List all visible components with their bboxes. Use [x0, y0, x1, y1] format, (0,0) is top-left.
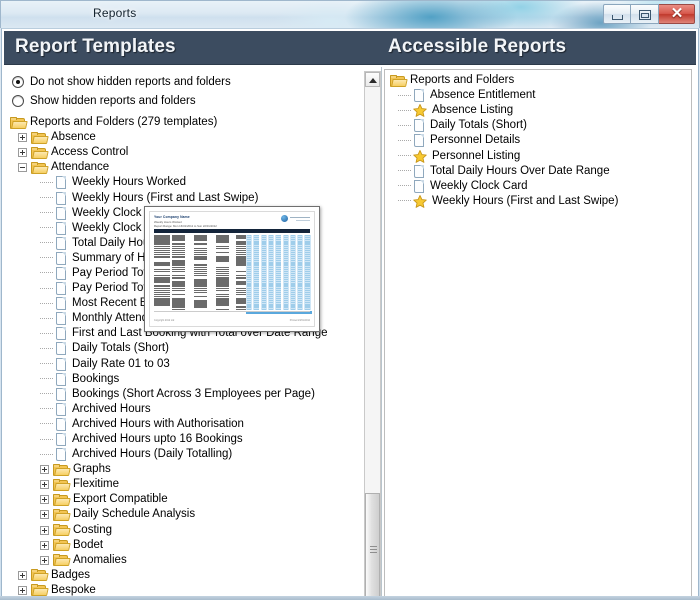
preview-cell [254, 294, 258, 295]
client-area: Report Templates Accessible Reports Do n… [1, 28, 699, 599]
preview-cell [276, 235, 280, 236]
preview-report-range: Report Range: Mon 16/01/2012 to Sun 22/0… [154, 224, 217, 228]
preview-cell [284, 275, 288, 276]
tree-item-label: Reports and Folders (279 templates) [30, 115, 217, 130]
preview-cell [262, 267, 266, 268]
tree-item[interactable]: Total Daily Hours Over Date Range [390, 164, 690, 179]
preview-text-line [216, 309, 229, 311]
preview-cell [247, 239, 251, 240]
preview-cell [298, 262, 302, 263]
preview-cell [247, 267, 251, 268]
preview-cell [247, 306, 251, 307]
preview-text-line [172, 271, 185, 273]
preview-cell [305, 243, 309, 244]
preview-cell [269, 248, 273, 249]
preview-cell [305, 288, 309, 289]
expand-icon[interactable] [40, 526, 49, 535]
preview-cell [298, 302, 302, 303]
page-icon [413, 89, 425, 102]
tree-item[interactable]: Daily Totals (Short) [10, 341, 370, 356]
tree-item[interactable]: Personnel Listing [390, 148, 690, 163]
templates-scrollbar[interactable] [364, 71, 381, 599]
tree-item[interactable]: Attendance [10, 160, 370, 175]
preview-text-line [194, 275, 207, 277]
preview-cell [254, 258, 258, 259]
preview-cell [284, 304, 288, 305]
page-icon [55, 312, 67, 325]
page-icon [55, 342, 67, 355]
hidden-reports-radio-group: Do not show hidden reports and foldersSh… [12, 73, 231, 111]
preview-cell [262, 264, 266, 265]
preview-cell [276, 279, 280, 280]
preview-cell [298, 264, 302, 265]
preview-cell [276, 281, 280, 282]
preview-cell [262, 285, 266, 286]
tree-item[interactable]: Graphs [10, 462, 370, 477]
preview-cell [247, 258, 251, 259]
preview-cell [247, 262, 251, 263]
preview-cell [247, 292, 251, 293]
preview-cell [298, 300, 302, 301]
preview-cell [247, 273, 251, 274]
preview-cell [298, 283, 302, 284]
preview-cell [291, 277, 295, 278]
preview-cell [254, 296, 258, 297]
preview-cell [262, 252, 266, 253]
preview-cell [291, 292, 295, 293]
tree-item[interactable]: Archived Hours with Authorisation [10, 417, 370, 432]
preview-cell [284, 277, 288, 278]
page-icon [55, 267, 67, 280]
tree-item-label: Absence [51, 130, 96, 145]
page-icon [55, 358, 67, 371]
preview-cell [269, 246, 273, 247]
page-icon [55, 237, 67, 250]
tree-item-label: Archived Hours [72, 402, 151, 417]
tree-connector [40, 257, 53, 259]
preview-text-line [154, 281, 170, 283]
preview-cell [276, 254, 280, 255]
preview-text-line [216, 290, 229, 292]
preview-text-line [194, 296, 207, 298]
preview-cell [284, 281, 288, 282]
maximize-button[interactable] [631, 4, 659, 24]
tree-item-label: Access Control [51, 145, 128, 160]
preview-cell [254, 271, 258, 272]
tree-item[interactable]: Bookings [10, 372, 370, 387]
preview-cell [291, 252, 295, 253]
tree-item[interactable]: Daily Schedule Analysis [10, 507, 370, 522]
preview-cell [262, 306, 266, 307]
page-icon [55, 207, 67, 220]
radio-option-1[interactable]: Show hidden reports and folders [12, 92, 231, 109]
preview-cell [247, 296, 251, 297]
tree-item-label: Daily Rate 01 to 03 [72, 357, 170, 372]
preview-cell [254, 281, 258, 282]
tree-item-label: Daily Totals (Short) [430, 118, 527, 133]
report-templates-tree[interactable]: Reports and Folders (279 templates)Absen… [10, 115, 370, 598]
folder-icon [31, 162, 46, 174]
preview-cell [305, 298, 309, 299]
preview-cell [254, 250, 258, 251]
tree-item[interactable]: Daily Rate 01 to 03 [10, 357, 370, 372]
preview-cell [262, 281, 266, 282]
preview-cell [269, 267, 273, 268]
page-icon [55, 192, 67, 205]
preview-cell [284, 246, 288, 247]
preview-cell [276, 237, 280, 238]
tree-item[interactable]: Personnel Details [390, 133, 690, 148]
preview-cell [305, 235, 309, 236]
preview-cell [254, 277, 258, 278]
page-icon [55, 403, 67, 416]
preview-cell [269, 309, 273, 310]
preview-cell [284, 306, 288, 307]
expand-icon[interactable] [40, 495, 49, 504]
preview-cell [305, 239, 309, 240]
tree-item[interactable]: Weekly Hours (First and Last Swipe) [390, 194, 690, 209]
preview-cell [291, 302, 295, 303]
preview-cell [305, 294, 309, 295]
tree-item-label: Flexitime [73, 477, 119, 492]
preview-cell [254, 252, 258, 253]
preview-cell [305, 256, 309, 257]
close-button[interactable]: ✕ [659, 4, 695, 24]
preview-cell [298, 273, 302, 274]
folder-icon [31, 584, 46, 596]
folder-icon [53, 479, 68, 491]
preview-cell [284, 260, 288, 261]
tree-item[interactable]: Weekly Hours Worked [10, 175, 370, 190]
collapse-icon[interactable] [18, 163, 27, 172]
preview-text-line [216, 252, 229, 254]
preview-cell [305, 300, 309, 301]
preview-cell [291, 269, 295, 270]
page-icon [55, 373, 67, 386]
tree-connector [40, 439, 53, 441]
expand-icon[interactable] [18, 586, 27, 595]
page-icon [55, 282, 67, 295]
preview-cell [291, 256, 295, 257]
preview-cell [284, 283, 288, 284]
tree-item-label: Archived Hours with Authorisation [72, 417, 244, 432]
preview-cell [298, 304, 302, 305]
preview-cell [254, 254, 258, 255]
tree-connector [398, 155, 411, 157]
preview-cell [247, 304, 251, 305]
preview-cell [298, 309, 302, 310]
report-templates-title: Report Templates [15, 36, 176, 58]
preview-cell [276, 298, 280, 299]
preview-cell [291, 285, 295, 286]
preview-logo-text-line2 [296, 220, 310, 221]
preview-cell [305, 264, 309, 265]
tree-item-label: Attendance [51, 160, 109, 175]
tree-item-label: Weekly Hours Worked [72, 175, 186, 190]
preview-text-line [172, 294, 185, 296]
expand-icon[interactable] [40, 556, 49, 565]
tree-item[interactable]: Export Compatible [10, 492, 370, 507]
tree-item-label: Weekly Hours (First and Last Swipe) [432, 194, 618, 209]
preview-cell [305, 309, 309, 310]
preview-cell [305, 283, 309, 284]
tree-connector [40, 333, 53, 335]
tree-connector [398, 185, 411, 187]
preview-cell [269, 250, 273, 251]
preview-cell [262, 292, 266, 293]
preview-cell [254, 302, 258, 303]
tree-connector [398, 170, 411, 172]
preview-cell [305, 262, 309, 263]
preview-company-name: Your Company Name [154, 215, 190, 219]
preview-footer-left: Copyright 2012 Ltd [154, 319, 174, 322]
report-templates-panel: Do not show hidden reports and foldersSh… [4, 67, 382, 599]
folder-icon [53, 464, 68, 476]
preview-cell [284, 254, 288, 255]
preview-logo-icon [281, 215, 288, 222]
preview-cell [276, 246, 280, 247]
preview-cell [284, 262, 288, 263]
tree-connector [40, 272, 53, 274]
preview-cell [262, 271, 266, 272]
folder-icon [53, 524, 68, 536]
preview-cell [305, 271, 309, 272]
folder-icon [390, 75, 405, 87]
title-bar: Reports ✕ [0, 0, 700, 28]
preview-cell [284, 250, 288, 251]
preview-cell [262, 260, 266, 261]
preview-cell [276, 296, 280, 297]
preview-cell [254, 243, 258, 244]
preview-cell [262, 258, 266, 259]
preview-cell [269, 256, 273, 257]
tree-item-label: Archived Hours (Daily Totalling) [72, 447, 232, 462]
preview-cell [254, 309, 258, 310]
expand-icon[interactable] [18, 571, 27, 580]
preview-cell [305, 275, 309, 276]
preview-text-line [154, 304, 170, 306]
preview-cell [262, 302, 266, 303]
preview-cell [276, 306, 280, 307]
minimize-button[interactable] [603, 4, 631, 24]
tree-connector [40, 423, 53, 425]
tree-item[interactable]: Flexitime [10, 477, 370, 492]
page-icon [413, 119, 425, 132]
preview-cell [247, 269, 251, 270]
accessible-reports-tree[interactable]: Reports and FoldersAbsence EntitlementAb… [390, 73, 690, 209]
scrollbar-track[interactable] [365, 87, 380, 599]
accessible-reports-panel: Reports and FoldersAbsence EntitlementAb… [382, 67, 696, 599]
folder-icon [53, 554, 68, 566]
preview-cell [269, 294, 273, 295]
expand-icon[interactable] [40, 480, 49, 489]
preview-cell [284, 267, 288, 268]
preview-cell [298, 277, 302, 278]
window-frame: Reports ✕ [0, 0, 700, 600]
preview-text-line [172, 256, 185, 258]
preview-page: Your Company Name Weekly Hours Worked Re… [149, 211, 315, 327]
folder-icon [53, 494, 68, 506]
preview-cell [269, 275, 273, 276]
preview-cell [276, 248, 280, 249]
preview-cell [262, 243, 266, 244]
preview-cell [305, 252, 309, 253]
preview-cell [305, 269, 309, 270]
preview-cell [284, 296, 288, 297]
preview-cell [305, 237, 309, 238]
preview-cell [254, 260, 258, 261]
preview-cell [269, 235, 273, 236]
preview-cell [284, 269, 288, 270]
preview-cell [284, 294, 288, 295]
preview-cell [284, 292, 288, 293]
radio-button-1[interactable] [12, 95, 24, 107]
preview-text-line [216, 241, 229, 243]
preview-cell [262, 235, 266, 236]
tree-item[interactable]: Absence [10, 130, 370, 145]
tree-connector [40, 288, 53, 290]
preview-cell [269, 252, 273, 253]
preview-cell [247, 235, 251, 236]
tree-item[interactable]: Daily Totals (Short) [390, 118, 690, 133]
tree-item[interactable]: Bookings (Short Across 3 Employees per P… [10, 387, 370, 402]
preview-cell [305, 248, 309, 249]
preview-cell [269, 271, 273, 272]
preview-cell [298, 254, 302, 255]
tree-item[interactable]: Absence Listing [390, 103, 690, 118]
preview-cell [269, 273, 273, 274]
radio-button-0[interactable] [12, 76, 24, 88]
preview-cell [254, 283, 258, 284]
preview-cell [291, 262, 295, 263]
tree-item[interactable]: Archived Hours (Daily Totalling) [10, 447, 370, 462]
preview-text-line [172, 277, 185, 279]
expand-icon[interactable] [40, 541, 49, 550]
preview-cell [262, 275, 266, 276]
preview-logo-text-line [290, 217, 310, 218]
preview-cell [298, 260, 302, 261]
tree-item[interactable]: Badges [10, 568, 370, 583]
preview-cell [247, 275, 251, 276]
preview-cell [291, 250, 295, 251]
preview-cell [284, 248, 288, 249]
tree-item[interactable]: Bodet [10, 538, 370, 553]
preview-cell [298, 248, 302, 249]
preview-cell [298, 279, 302, 280]
preview-cell [262, 290, 266, 291]
tree-connector [398, 140, 411, 142]
tree-item[interactable]: Archived Hours upto 16 Bookings [10, 432, 370, 447]
preview-cell [276, 300, 280, 301]
preview-cell [276, 264, 280, 265]
preview-cell [291, 254, 295, 255]
tree-item[interactable]: Archived Hours [10, 402, 370, 417]
preview-cell [284, 309, 288, 310]
page-icon [55, 297, 67, 310]
preview-cell [305, 285, 309, 286]
preview-cell [298, 306, 302, 307]
preview-cell [247, 285, 251, 286]
tree-connector [398, 95, 411, 97]
radio-label-0: Do not show hidden reports and folders [30, 76, 231, 88]
preview-cell [262, 294, 266, 295]
tree-item[interactable]: Access Control [10, 145, 370, 160]
tree-item[interactable]: Absence Entitlement [390, 88, 690, 103]
preview-cell [291, 300, 295, 301]
tree-item[interactable]: Weekly Hours (First and Last Swipe) [10, 190, 370, 205]
preview-cell [284, 256, 288, 257]
tree-item-label: Archived Hours upto 16 Bookings [72, 432, 243, 447]
tree-item[interactable]: Reports and Folders (279 templates) [10, 115, 370, 130]
preview-cell [247, 248, 251, 249]
preview-text-line [172, 290, 185, 292]
preview-text-line [194, 243, 207, 245]
preview-cell [298, 275, 302, 276]
preview-cell [254, 237, 258, 238]
preview-cell [291, 288, 295, 289]
page-icon [413, 134, 425, 147]
preview-cell [247, 237, 251, 238]
scrollbar-thumb[interactable] [365, 493, 380, 599]
preview-cell [291, 241, 295, 242]
preview-text-line [216, 248, 229, 250]
preview-cell [254, 256, 258, 257]
preview-cell [269, 260, 273, 261]
preview-cell [291, 283, 295, 284]
preview-cell [262, 262, 266, 263]
preview-cell [276, 262, 280, 263]
preview-cell [262, 254, 266, 255]
preview-cell [305, 267, 309, 268]
preview-cell [269, 302, 273, 303]
preview-cell [284, 237, 288, 238]
expand-icon[interactable] [40, 465, 49, 474]
page-icon [413, 180, 425, 193]
expand-icon[interactable] [18, 148, 27, 157]
preview-cell [262, 237, 266, 238]
radio-option-0[interactable]: Do not show hidden reports and folders [12, 73, 231, 90]
tree-item[interactable]: Reports and Folders [390, 73, 690, 88]
scroll-up-button[interactable] [365, 72, 380, 87]
preview-cell [276, 239, 280, 240]
preview-cell [262, 256, 266, 257]
preview-cell [254, 304, 258, 305]
expand-icon[interactable] [40, 510, 49, 519]
preview-cell [305, 306, 309, 307]
preview-cell [262, 273, 266, 274]
tree-item[interactable]: Anomalies [10, 553, 370, 568]
expand-icon[interactable] [18, 133, 27, 142]
preview-text-line [172, 309, 185, 311]
preview-cell [262, 288, 266, 289]
preview-cell [298, 271, 302, 272]
preview-cell [284, 290, 288, 291]
tree-connector [40, 393, 53, 395]
preview-cell [291, 296, 295, 297]
preview-cell [269, 298, 273, 299]
preview-cell [247, 281, 251, 282]
preview-cell [254, 275, 258, 276]
tree-item[interactable]: Weekly Clock Card [390, 179, 690, 194]
preview-cell [247, 243, 251, 244]
preview-cell [305, 302, 309, 303]
tree-item[interactable]: Costing [10, 523, 370, 538]
preview-cell [276, 294, 280, 295]
preview-cell [269, 264, 273, 265]
preview-cell [247, 254, 251, 255]
preview-cell [291, 248, 295, 249]
preview-text-line [194, 292, 207, 294]
